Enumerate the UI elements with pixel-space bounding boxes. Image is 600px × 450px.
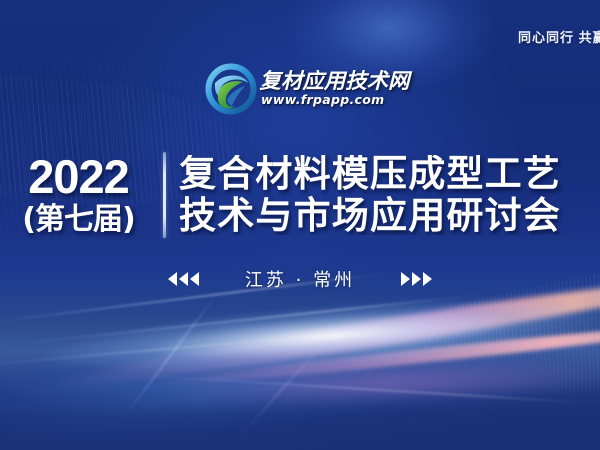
triple-right-triangle-icon xyxy=(401,272,432,286)
right-triangle-icon xyxy=(412,272,421,286)
event-title-line-1: 复合材料模压成型工艺 xyxy=(179,155,600,193)
event-location: 江苏 · 常州 xyxy=(245,266,355,292)
bottom-shade xyxy=(0,388,600,450)
logo-text-block: 复材应用技术网 www.frpapp.com xyxy=(261,71,408,107)
triple-left-triangle-icon xyxy=(168,272,199,286)
right-triangle-icon xyxy=(423,272,432,286)
right-triangle-icon xyxy=(401,272,410,286)
logo-name-cn: 复材应用技术网 xyxy=(260,71,410,92)
frpapp-circular-swoosh-logo-icon xyxy=(205,63,257,115)
left-triangle-icon xyxy=(168,272,177,286)
year-edition-column: 2022 (第七届) xyxy=(0,154,163,236)
site-logo: 复材应用技术网 www.frpapp.com xyxy=(205,60,395,118)
headline-block: 2022 (第七届) 复合材料模压成型工艺 技术与市场应用研讨会 xyxy=(0,142,600,248)
logo-url: www.frpapp.com xyxy=(261,94,408,107)
event-edition: (第七届) xyxy=(22,203,134,236)
event-title-column: 复合材料模压成型工艺 技术与市场应用研讨会 xyxy=(166,155,600,234)
left-triangle-icon xyxy=(179,272,188,286)
event-title-line-2: 技术与市场应用研讨会 xyxy=(179,197,600,235)
conference-poster: 同心同行 共赢未来 xyxy=(0,0,600,450)
slogan-text: 同心同行 共赢未来 xyxy=(518,27,600,46)
left-triangle-icon xyxy=(190,272,199,286)
event-year: 2022 xyxy=(28,154,129,200)
location-row: 江苏 · 常州 xyxy=(0,266,600,292)
